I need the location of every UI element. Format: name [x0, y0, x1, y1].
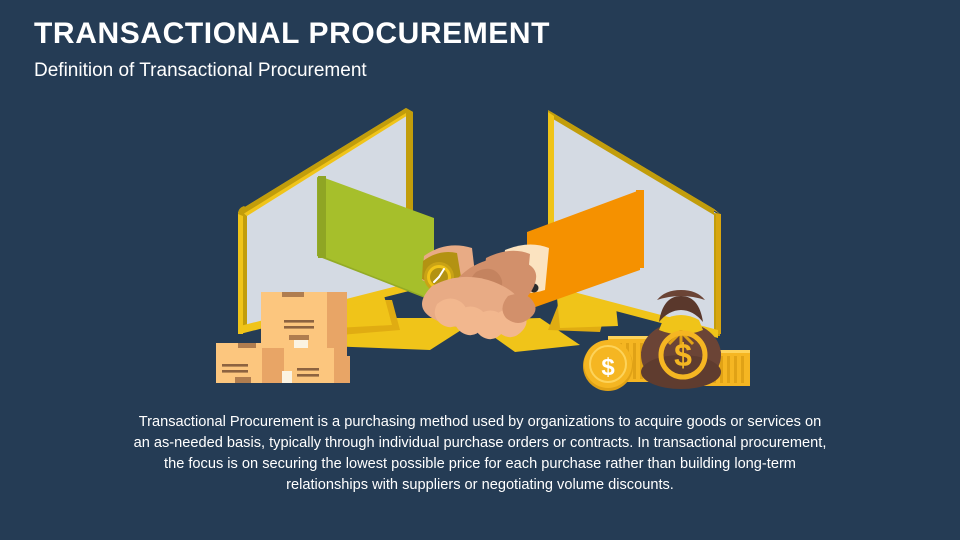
dollar-coin: $ — [583, 340, 633, 391]
page-subtitle: Definition of Transactional Procurement — [34, 60, 367, 82]
body-paragraph: Transactional Procurement is a purchasin… — [130, 412, 830, 496]
slide-canvas: $ $ — [0, 0, 960, 540]
svg-text:$: $ — [601, 354, 615, 381]
svg-text:$: $ — [674, 337, 692, 373]
cardboard-parcel-boxes — [216, 292, 350, 383]
page-title: TRANSACTIONAL PROCUREMENT — [34, 17, 550, 51]
